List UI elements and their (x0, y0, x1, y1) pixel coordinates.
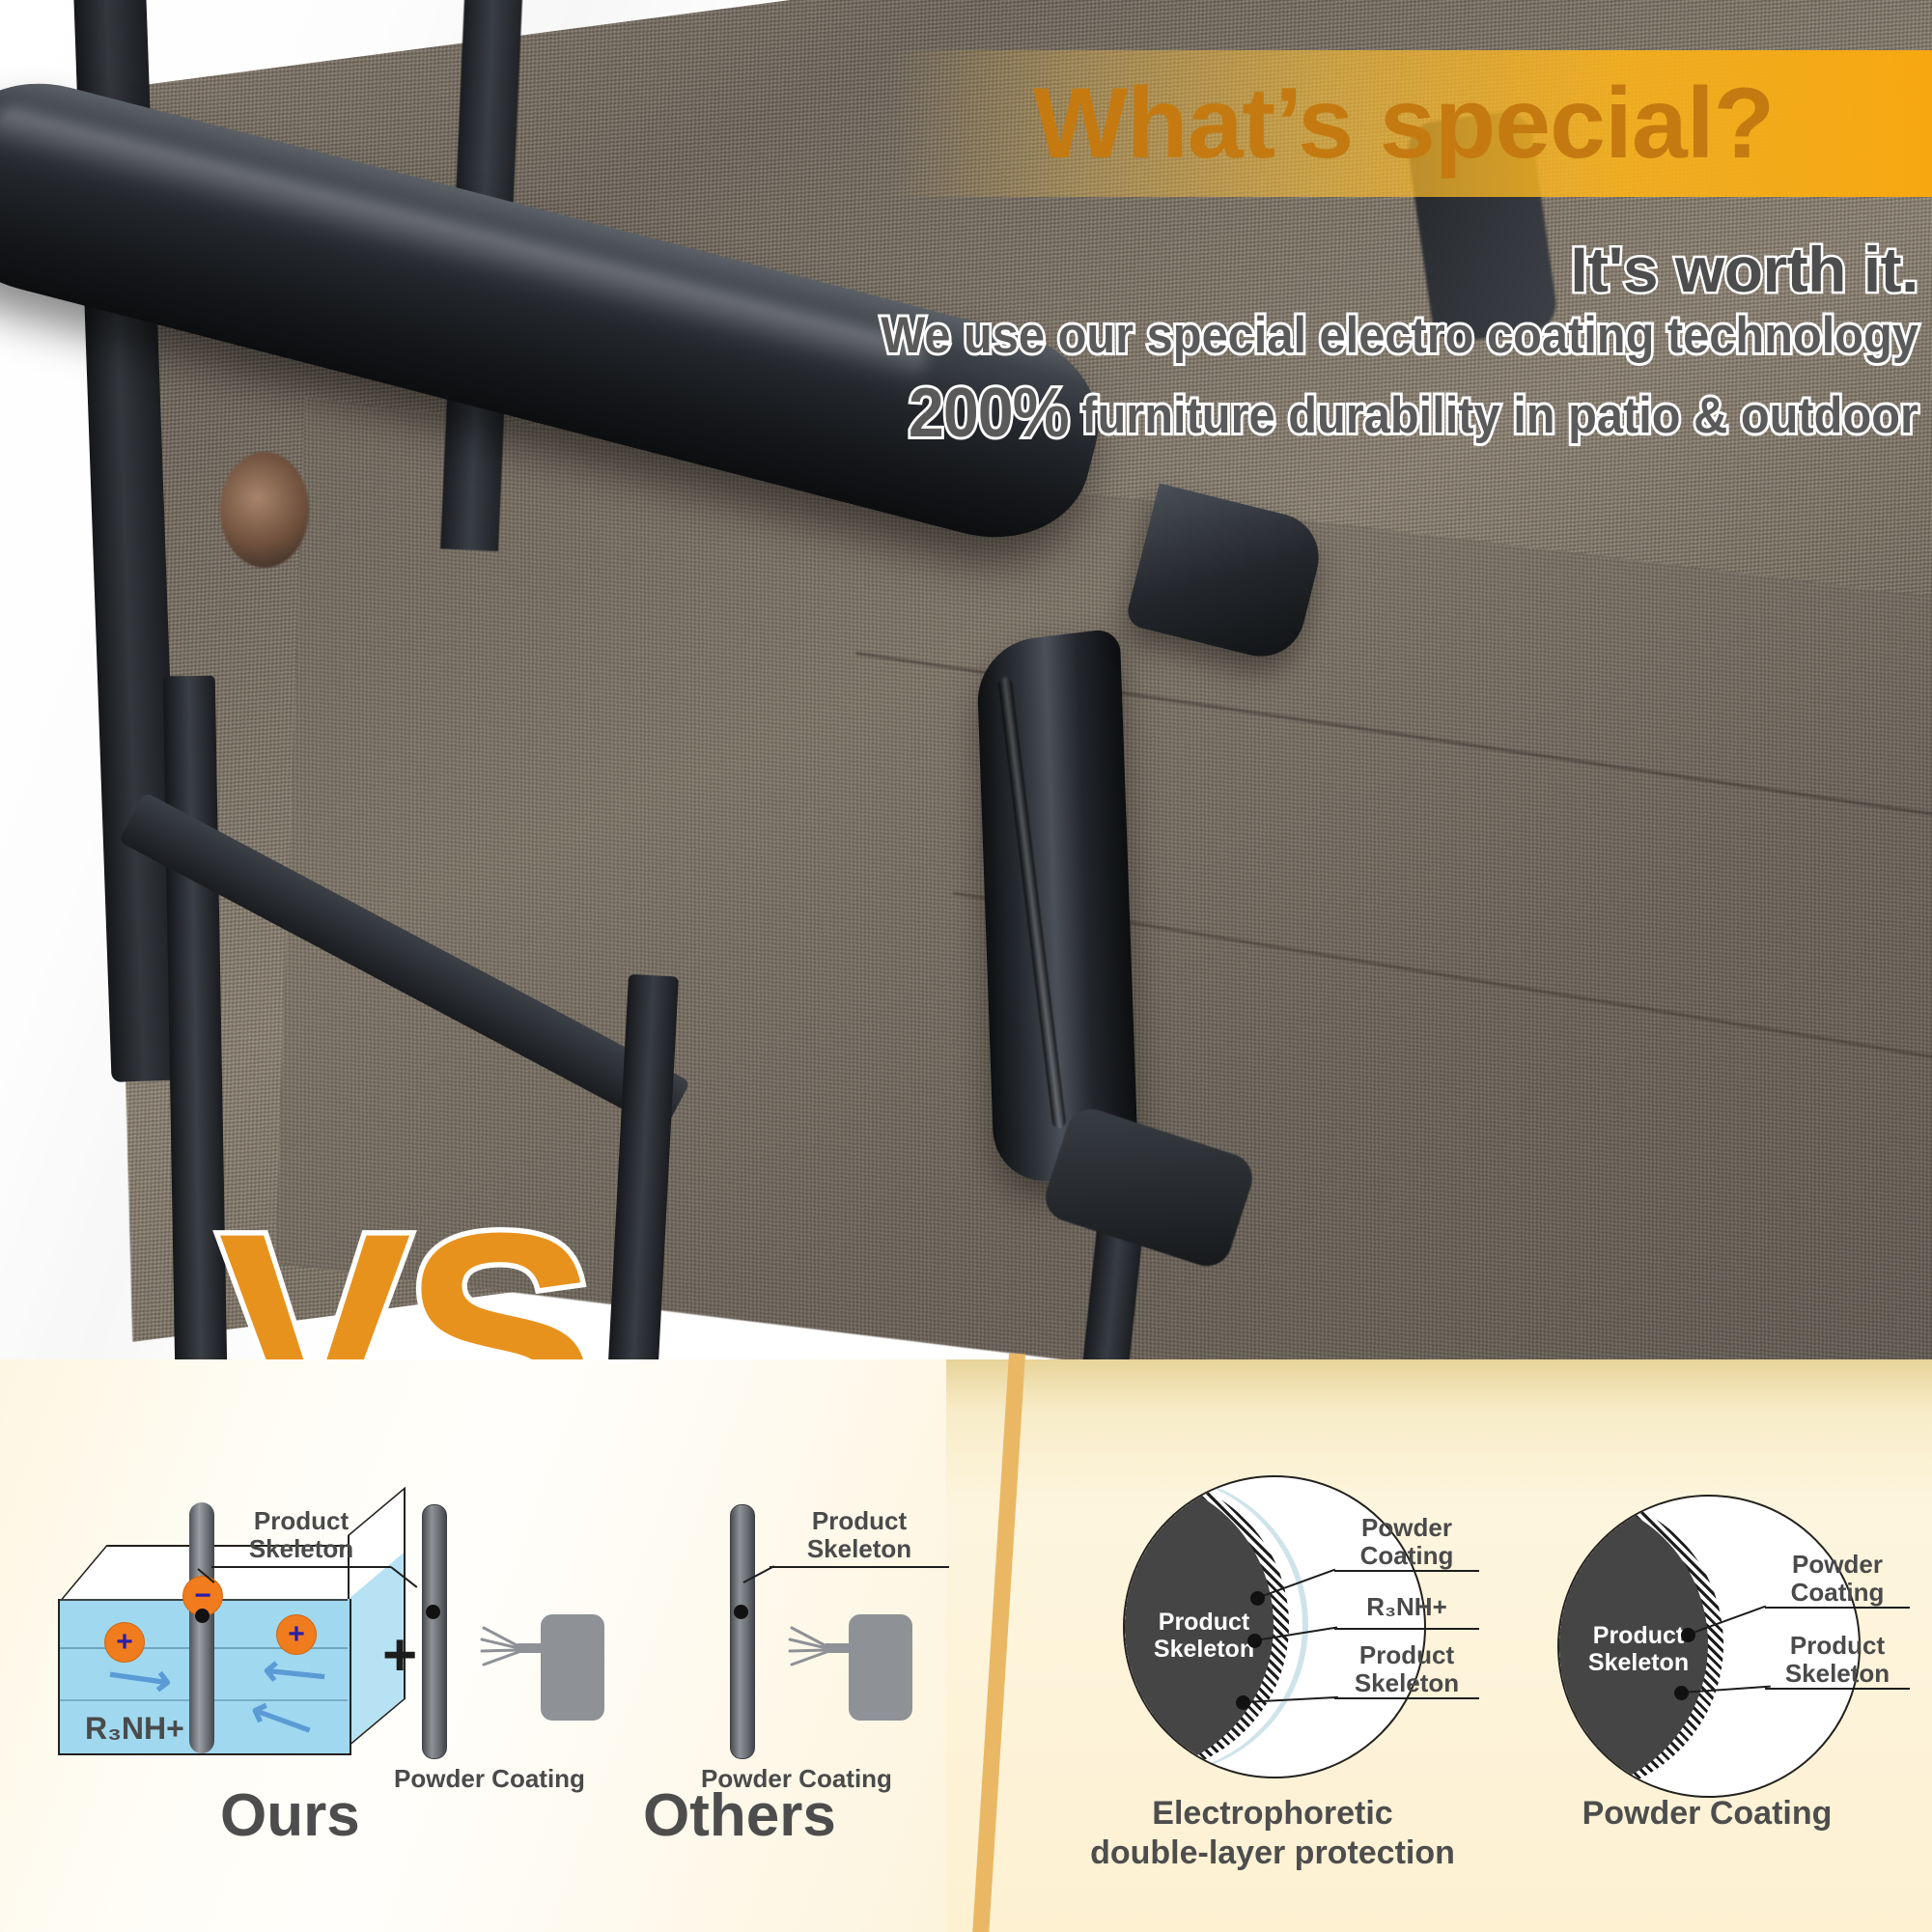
cs2-callout-skeleton: Product Skeleton (1760, 1632, 1915, 1688)
others-powder-rod-dot (734, 1605, 748, 1619)
cs1-dot-r3nh (1247, 1634, 1262, 1648)
headline-copy: It's worth it. We use our special electr… (779, 237, 1918, 458)
cs1-caption: Electrophoretic double-layer protection (1050, 1794, 1495, 1874)
cs1-core-label: Product Skeleton (1146, 1609, 1262, 1663)
others-spray-gun (849, 1614, 912, 1721)
tagline-line-1: We use our special electro coating techn… (870, 303, 1918, 369)
cs1-callout-powder: Powder Coating (1330, 1514, 1484, 1570)
cs1-callout-skeleton: Product Skeleton (1330, 1641, 1484, 1697)
cs2-callout-powder-underline (1765, 1607, 1910, 1609)
others-caption: Others (643, 1786, 836, 1846)
ours-spray-gun (541, 1614, 604, 1721)
tagline-line-2: 200% furniture durability in patio & out… (870, 369, 1918, 458)
ours-skeleton-label: Product Skeleton (205, 1507, 398, 1563)
ours-skeleton-underline (211, 1566, 391, 1568)
others-spray-nozzle (826, 1643, 851, 1653)
ours-spray-nozzle (518, 1643, 543, 1653)
others-skeleton-underline (770, 1566, 949, 1568)
cs2-caption: Powder Coating (1495, 1794, 1919, 1834)
frame-eyelet (220, 452, 309, 568)
cs2-dot-skeleton (1674, 1686, 1689, 1700)
ours-caption: Ours (220, 1786, 360, 1846)
cs1-callout-skeleton-underline (1334, 1697, 1479, 1699)
cs1-dot-skeleton (1236, 1695, 1250, 1710)
page-title: What’s special? (1033, 50, 1902, 197)
cs2-core-label: Product Skeleton (1581, 1622, 1696, 1676)
cs1-dot-powder (1250, 1591, 1265, 1606)
others-powder-rod (730, 1504, 755, 1759)
ours-powder-rod (422, 1504, 447, 1759)
product-photo (0, 0, 1932, 1361)
infographic-page: What’s special? It's worth it. We use ou… (0, 0, 1932, 1932)
cs1-callout-r3nh-underline (1334, 1628, 1479, 1630)
cs2-callout-powder: Powder Coating (1760, 1551, 1915, 1607)
ours-powder-rod-dot (426, 1605, 440, 1619)
ours-powder-label: Powder Coating (359, 1765, 620, 1793)
cathode-callout-dot (195, 1609, 210, 1623)
cs1-callout-r3nh: R₃NH+ (1334, 1593, 1479, 1621)
ours-plus-sign: + (382, 1626, 417, 1686)
cs2-callout-skeleton-underline (1765, 1688, 1910, 1690)
durability-percent: 200% (909, 375, 1069, 452)
solution-formula: R₃NH+ (85, 1711, 184, 1747)
tagline-worth: It's worth it. (779, 237, 1918, 303)
cs2-dot-powder (1681, 1628, 1695, 1642)
flow-arrow-1: ⟶ (105, 1651, 175, 1704)
durability-rest: furniture durability in patio & outdoor (1069, 387, 1918, 444)
cs1-callout-powder-underline (1334, 1570, 1479, 1572)
others-skeleton-label: Product Skeleton (763, 1507, 956, 1563)
panel-divider (972, 1353, 1025, 1932)
